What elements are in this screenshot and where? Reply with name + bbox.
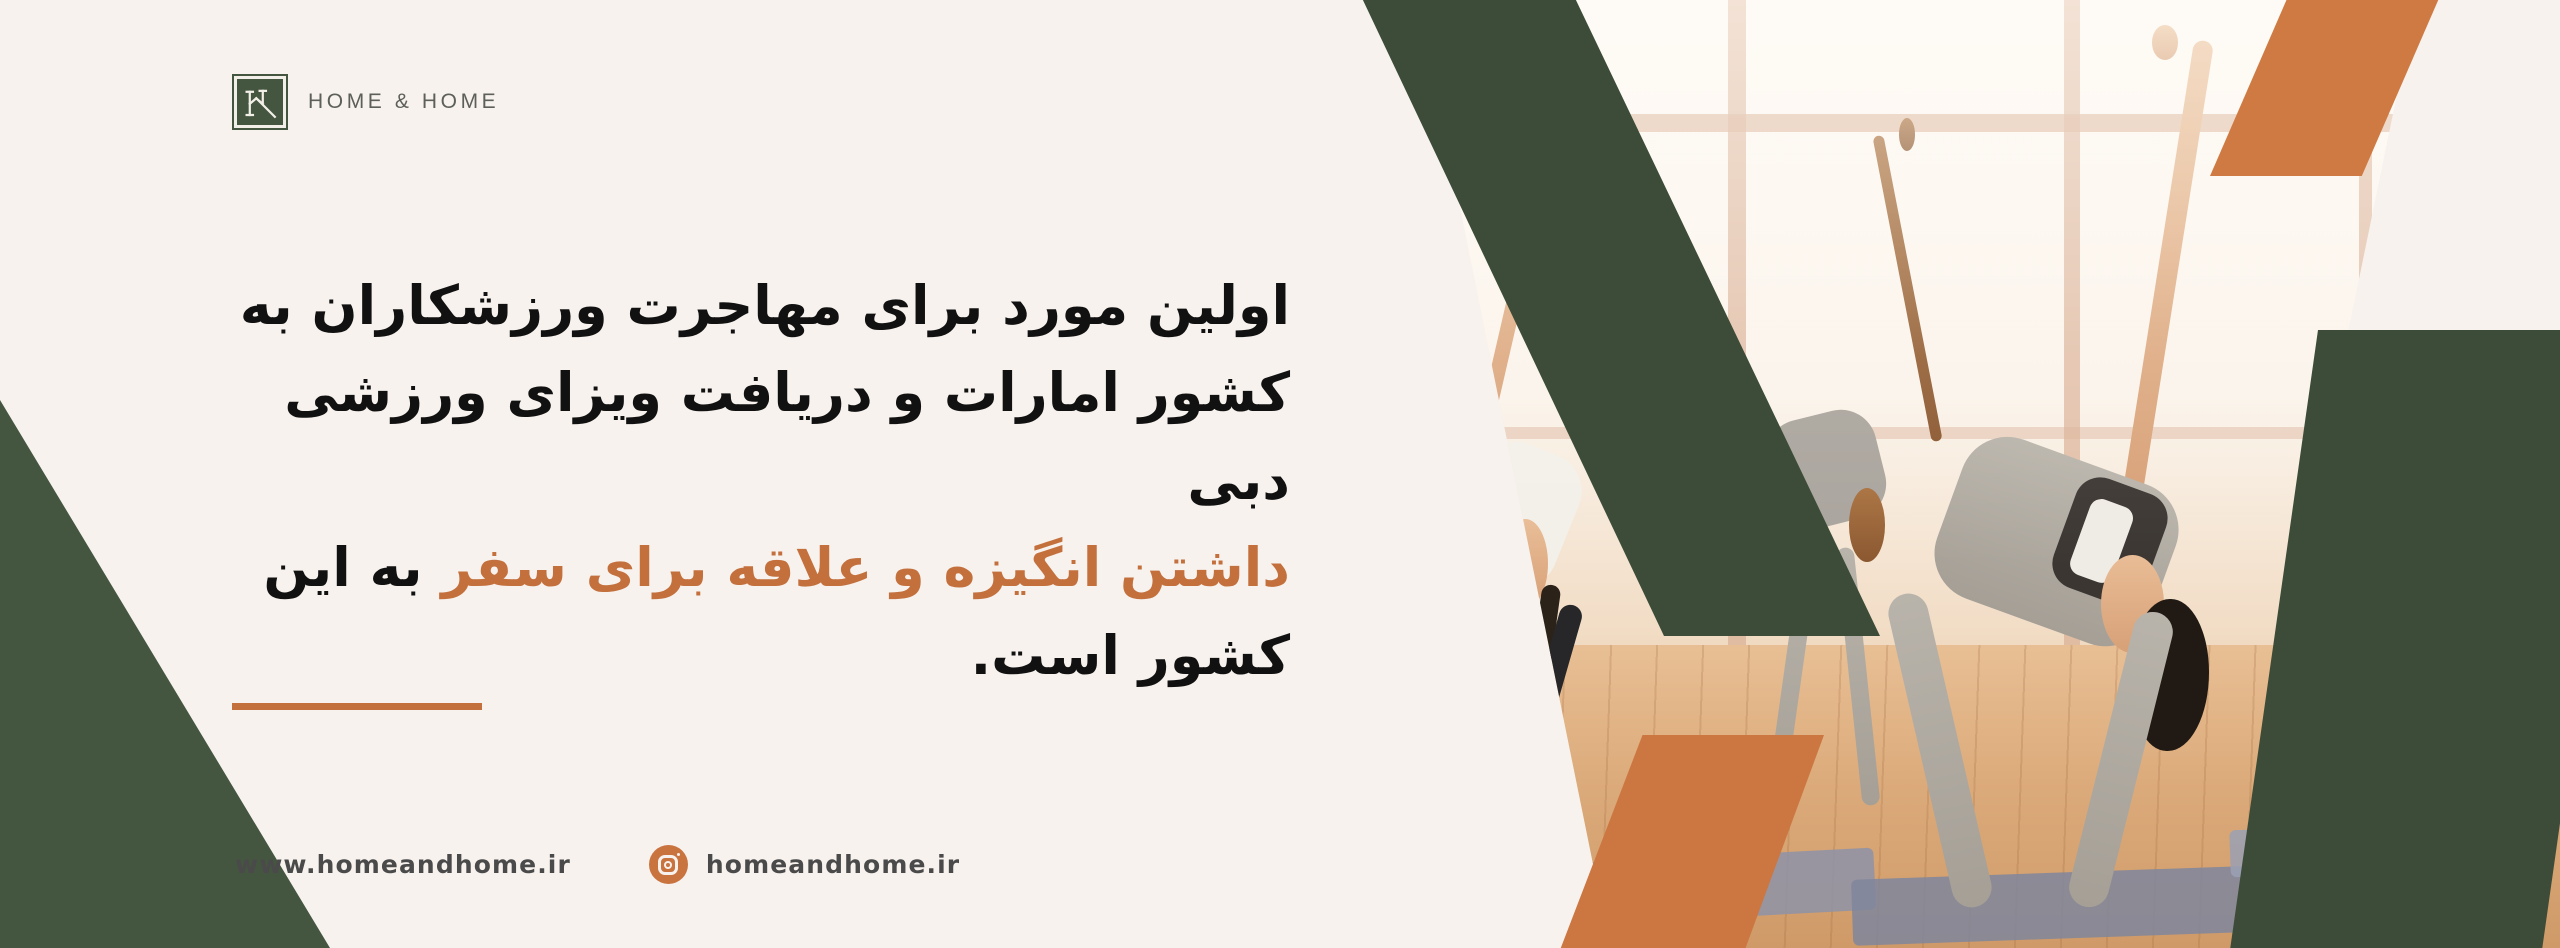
headline-accent-text: داشتن انگیزه و علاقه برای سفر: [441, 536, 1290, 599]
instagram-link[interactable]: homeandhome.ir: [649, 845, 960, 884]
accent-divider: [232, 703, 482, 710]
headline-line-1: اولین مورد برای مهاجرت ورزشکاران به: [210, 262, 1290, 349]
headline-line-3-rest: به این: [263, 536, 441, 599]
promo-banner: HOME & HOME اولین مورد برای مهاجرت ورزشک…: [0, 0, 2560, 948]
headline-line-2: کشور امارات و دریافت ویزای ورزشی دبی: [210, 349, 1290, 524]
headline-line-3: داشتن انگیزه و علاقه برای سفر به این: [210, 524, 1290, 611]
brand-logo[interactable]: HOME & HOME: [232, 74, 499, 130]
headline-line-4: کشور است.: [210, 612, 1290, 699]
headline: اولین مورد برای مهاجرت ورزشکاران به کشور…: [210, 262, 1290, 699]
website-label: www.homeandhome.ir: [235, 850, 571, 879]
footer: www.homeandhome.ir homeandhome.ir: [235, 845, 960, 884]
house-h-monogram-icon: [232, 74, 288, 130]
instagram-icon[interactable]: [649, 845, 688, 884]
instagram-handle: homeandhome.ir: [706, 850, 960, 879]
website-link[interactable]: www.homeandhome.ir: [235, 850, 571, 879]
brand-name: HOME & HOME: [308, 90, 499, 114]
